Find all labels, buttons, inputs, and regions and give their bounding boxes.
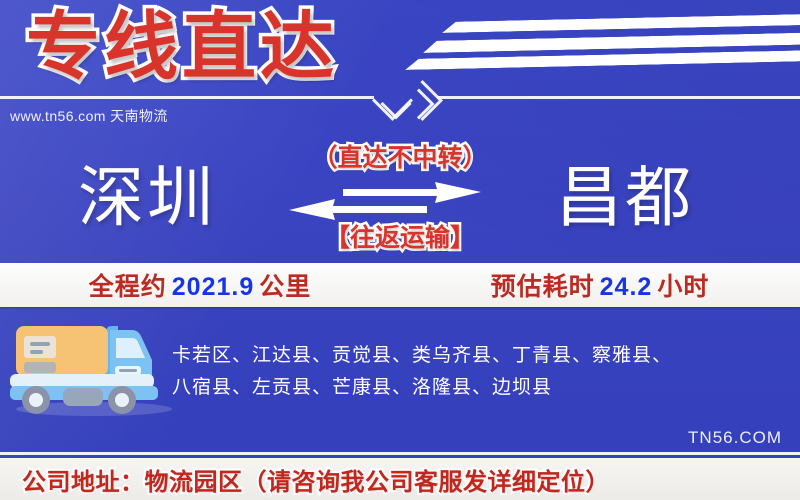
distance-label-prefix: 全程约 [89,273,167,301]
site-url-label: www.tn56.com 天南物流 [10,106,168,126]
list-item: 八宿县、左贡县、芒康县、洛隆县、边坝县 [172,372,772,404]
duration-stat: 预估耗时24.2小时 [400,267,800,303]
round-trip-badge: 【往返运输】 [280,222,520,254]
divider-line-left [0,96,374,99]
coverage-district-list: 卡若区、江达县、贡觉县、类乌齐县、丁青县、察雅县、 八宿县、左贡县、芒康县、洛隆… [172,340,772,404]
logistics-route-poster: 专线直达 www.tn56.com 天南物流 深圳 昌都 （直达不中转） 【往返… [0,0,800,500]
company-address-label: 公司地址：物流园区（请咨询我公司客服发详细定位） [0,462,610,497]
distance-stat: 全程约2021.9公里 [0,267,400,303]
watermark-label: TN56.COM [688,428,782,448]
distance-label-suffix: 公里 [259,273,311,301]
destination-city-label: 昌都 [556,158,694,236]
divider-line-right [437,96,800,99]
route-stats-band: 全程约2021.9公里 预估耗时24.2小时 [0,263,800,307]
distance-value: 2021.9 [167,273,259,301]
origin-city-label: 深圳 [78,158,216,236]
duration-label-prefix: 预估耗时 [491,273,595,301]
page-title: 专线直达 [26,4,338,90]
delivery-truck-icon [6,312,176,417]
list-item: 卡若区、江达县、贡觉县、类乌齐县、丁青县、察雅县、 [172,340,772,372]
footer-divider [0,452,800,455]
duration-value: 24.2 [595,273,658,301]
direct-route-badge: （直达不中转） [280,142,520,174]
bidirectional-arrow-icon [285,182,485,220]
duration-label-suffix: 小时 [657,273,709,301]
footer-band: 公司地址：物流园区（请咨询我公司客服发详细定位） [0,458,800,500]
